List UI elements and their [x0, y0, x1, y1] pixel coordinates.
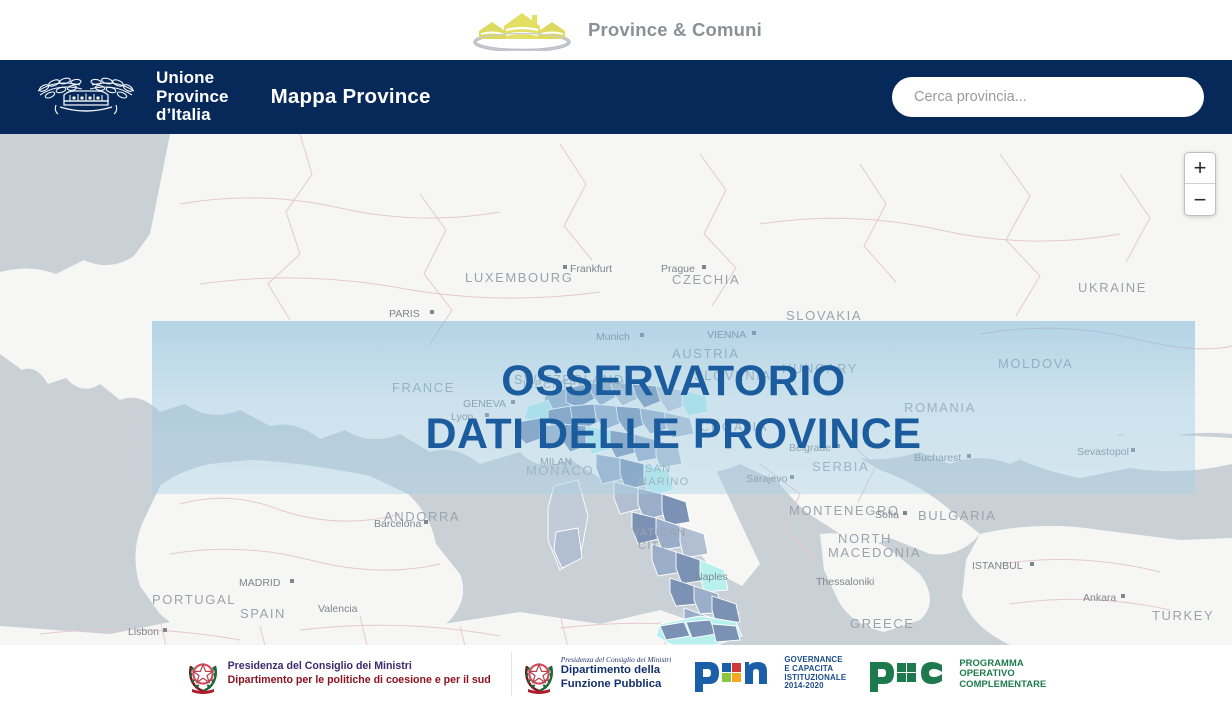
italian-republic-emblem-icon — [522, 652, 556, 696]
svg-text:MARINO: MARINO — [638, 476, 689, 488]
top-brand-strip: Province & Comuni — [0, 0, 1232, 60]
upi-line-1: Unione — [156, 69, 229, 88]
svg-text:ROMANIA: ROMANIA — [904, 400, 976, 415]
footer-logo-bar: Presidenza del Consiglio dei Ministri Di… — [0, 645, 1232, 702]
svg-text:Barcelona: Barcelona — [374, 518, 421, 530]
dfp-script-line: Presidenza del Consiglio dei Ministri — [561, 655, 672, 664]
svg-text:Munich: Munich — [596, 331, 630, 343]
footer-logo-poc-programma-operativo[interactable]: PROGRAMMA OPERATIVO COMPLEMENTARE — [866, 654, 1046, 694]
svg-text:Thessaloniki: Thessaloniki — [816, 576, 874, 588]
svg-text:LUXEMBOURG: LUXEMBOURG — [465, 270, 573, 285]
basemap-svg: .cl { fill:#9aa4ad; font-family:"Liberat… — [0, 134, 1232, 645]
svg-text:BULGARIA: BULGARIA — [918, 508, 997, 523]
svg-text:VIENNA: VIENNA — [707, 329, 746, 341]
svg-text:UKRAINE: UKRAINE — [1078, 280, 1147, 295]
svg-text:Naples: Naples — [695, 571, 728, 583]
svg-text:Ankara: Ankara — [1083, 592, 1116, 604]
search-input[interactable] — [892, 77, 1204, 117]
svg-text:Belgrade: Belgrade — [789, 442, 831, 454]
page-root: Province & Comuni — [0, 0, 1232, 702]
upi-laurel-emblem-icon — [30, 71, 142, 123]
upi-line-2: Province — [156, 88, 229, 107]
upi-wordmark: Unione Province d’Italia — [156, 69, 229, 125]
svg-text:Lisbon: Lisbon — [128, 626, 159, 638]
svg-text:MILAN: MILAN — [540, 456, 572, 468]
svg-text:GENEVA: GENEVA — [463, 398, 506, 410]
footer-logo-pon-governance[interactable]: GOVERNANCE E CAPACITA ISTITUZIONALE 2014… — [691, 654, 846, 694]
italian-republic-emblem-icon — [186, 652, 220, 696]
svg-text:VATICAN: VATICAN — [632, 527, 686, 539]
footer-logo-text: Presidenza del Consiglio dei Ministri Di… — [561, 655, 672, 692]
svg-text:MACEDONIA: MACEDONIA — [828, 545, 921, 560]
svg-text:AUSTRIA: AUSTRIA — [672, 346, 740, 361]
svg-text:SERBIA: SERBIA — [812, 459, 869, 474]
zoom-out-button[interactable]: − — [1185, 184, 1215, 215]
svg-text:PORTUGAL: PORTUGAL — [152, 592, 236, 607]
zoom-in-button[interactable]: + — [1185, 153, 1215, 184]
poc-line-3: COMPLEMENTARE — [959, 679, 1046, 690]
svg-text:LIECHTENSTEIN: LIECHTENSTEIN — [523, 379, 625, 391]
svg-text:Sevastopol: Sevastopol — [1077, 446, 1129, 458]
svg-text:SLOVAKIA: SLOVAKIA — [786, 308, 862, 323]
navbar-brand[interactable]: Unione Province d’Italia — [30, 69, 229, 125]
pcm-line-2: Dipartimento per le politiche di coesion… — [228, 674, 491, 688]
svg-text:MOLDOVA: MOLDOVA — [998, 356, 1073, 371]
svg-text:SLOVENIA: SLOVENIA — [694, 368, 772, 383]
svg-text:Valencia: Valencia — [318, 603, 358, 615]
svg-text:HUNGARY: HUNGARY — [782, 361, 858, 376]
navbar-search-area — [892, 77, 1204, 117]
svg-text:MADRID: MADRID — [239, 577, 281, 589]
svg-text:Bucharest: Bucharest — [914, 452, 961, 464]
upi-line-3: d’Italia — [156, 106, 229, 125]
svg-text:FRANCE: FRANCE — [392, 380, 455, 395]
poc-logo-icon — [866, 654, 952, 694]
map-canvas[interactable]: .cl { fill:#9aa4ad; font-family:"Liberat… — [0, 134, 1232, 645]
footer-logo-text: PROGRAMMA OPERATIVO COMPLEMENTARE — [959, 658, 1046, 690]
svg-text:Prague: Prague — [661, 263, 695, 275]
svg-text:Sarajevo: Sarajevo — [746, 473, 788, 485]
svg-text:GREECE: GREECE — [850, 616, 915, 631]
svg-text:PARIS: PARIS — [389, 308, 420, 320]
dfp-line-1: Dipartimento della — [561, 664, 672, 678]
main-navbar: Unione Province d’Italia Mappa Province — [0, 60, 1232, 134]
svg-text:NORTH: NORTH — [838, 531, 892, 546]
svg-text:Sofia: Sofia — [875, 509, 899, 521]
dfp-line-2: Funzione Pubblica — [561, 678, 672, 692]
app-title: Mappa Province — [271, 85, 431, 109]
footer-logo-text: Presidenza del Consiglio dei Ministri Di… — [228, 660, 491, 688]
svg-text:TURKEY: TURKEY — [1152, 608, 1214, 623]
pcm-line-1: Presidenza del Consiglio dei Ministri — [228, 660, 491, 674]
footer-logo-dipartimento-funzione-pubblica[interactable]: Presidenza del Consiglio dei Ministri Di… — [511, 652, 672, 696]
svg-text:Frankfurt: Frankfurt — [570, 263, 612, 275]
svg-text:ISTANBUL: ISTANBUL — [972, 560, 1023, 572]
svg-text:CITY: CITY — [638, 540, 668, 552]
map-zoom-control[interactable]: + − — [1184, 152, 1216, 216]
pon-line-4: 2014-2020 — [784, 682, 846, 691]
province-comuni-roof-logo-icon — [470, 9, 574, 51]
svg-text:SPAIN: SPAIN — [240, 606, 286, 621]
pon-logo-icon — [691, 654, 777, 694]
footer-logo-text: GOVERNANCE E CAPACITA ISTITUZIONALE 2014… — [784, 656, 846, 690]
svg-text:SAN: SAN — [645, 463, 671, 475]
top-brand-title: Province & Comuni — [588, 19, 762, 41]
svg-text:CROATIA: CROATIA — [700, 419, 768, 434]
footer-logo-presidenza-consiglio-ministri[interactable]: Presidenza del Consiglio dei Ministri Di… — [186, 652, 491, 696]
svg-text:Lyon: Lyon — [451, 411, 474, 423]
